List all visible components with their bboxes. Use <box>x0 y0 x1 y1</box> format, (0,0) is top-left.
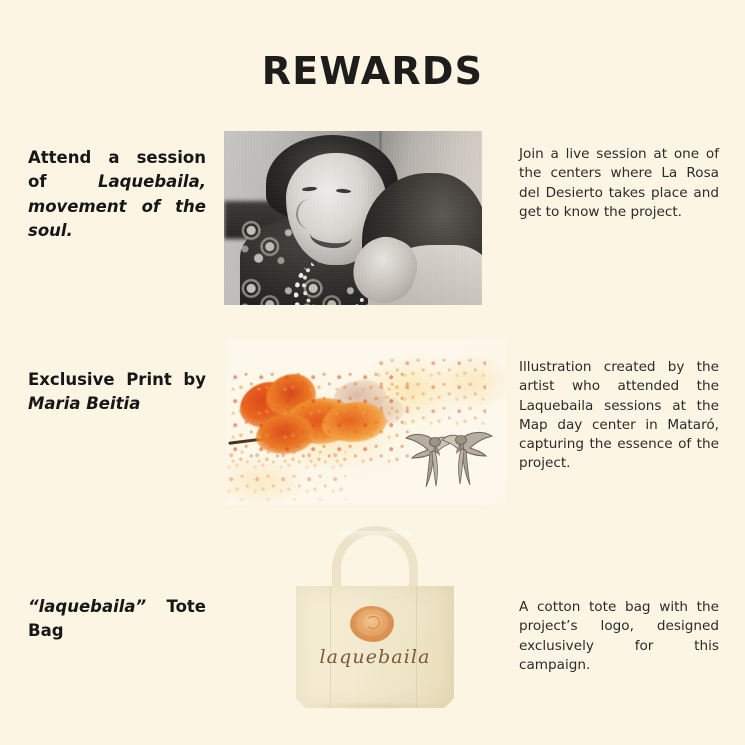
tote-bag-shadow <box>310 702 440 710</box>
reward-item-tote-bag: “laquebaila” Tote Bag laquebaila A cotto… <box>0 520 745 715</box>
reward-description-attend-session: Join a live session at one of the center… <box>519 145 719 222</box>
reward-item-exclusive-print: Exclusive Print by Maria Beitia <box>0 336 745 516</box>
swallow-bird-right-icon <box>438 422 496 488</box>
tote-bag-handle <box>332 526 418 594</box>
reward-title-plain: Exclusive Print by <box>28 370 206 389</box>
illustration-spatter-bottom-left <box>226 448 346 500</box>
rose-swirl <box>366 616 380 629</box>
rose-logo-icon <box>350 604 394 644</box>
reward-title-emphasis: “laquebaila” <box>28 597 146 616</box>
reward-description-tote-bag: A cotton tote bag with the project’s log… <box>519 598 719 675</box>
tote-bag-product-photo: laquebaila <box>290 520 460 715</box>
tote-bag-wordmark: laquebaila <box>290 646 460 668</box>
reward-description-exclusive-print: Illustration created by the artist who a… <box>519 358 719 474</box>
reward-title-emphasis: Maria Beitia <box>28 394 140 413</box>
reward-title-attend-session: Attend a session of Laquebaila, movement… <box>28 146 206 243</box>
reward-title-tote-bag: “laquebaila” Tote Bag <box>28 595 206 644</box>
page-title: REWARDS <box>0 49 745 93</box>
reward-item-attend-session: Attend a session of Laquebaila, movement… <box>0 126 745 316</box>
reward-title-exclusive-print: Exclusive Print by Maria Beitia <box>28 368 206 417</box>
rewards-page: REWARDS Attend a session of Laquebaila, … <box>0 0 745 745</box>
elderly-woman-photo <box>224 131 482 305</box>
watercolor-illustration <box>226 340 506 505</box>
